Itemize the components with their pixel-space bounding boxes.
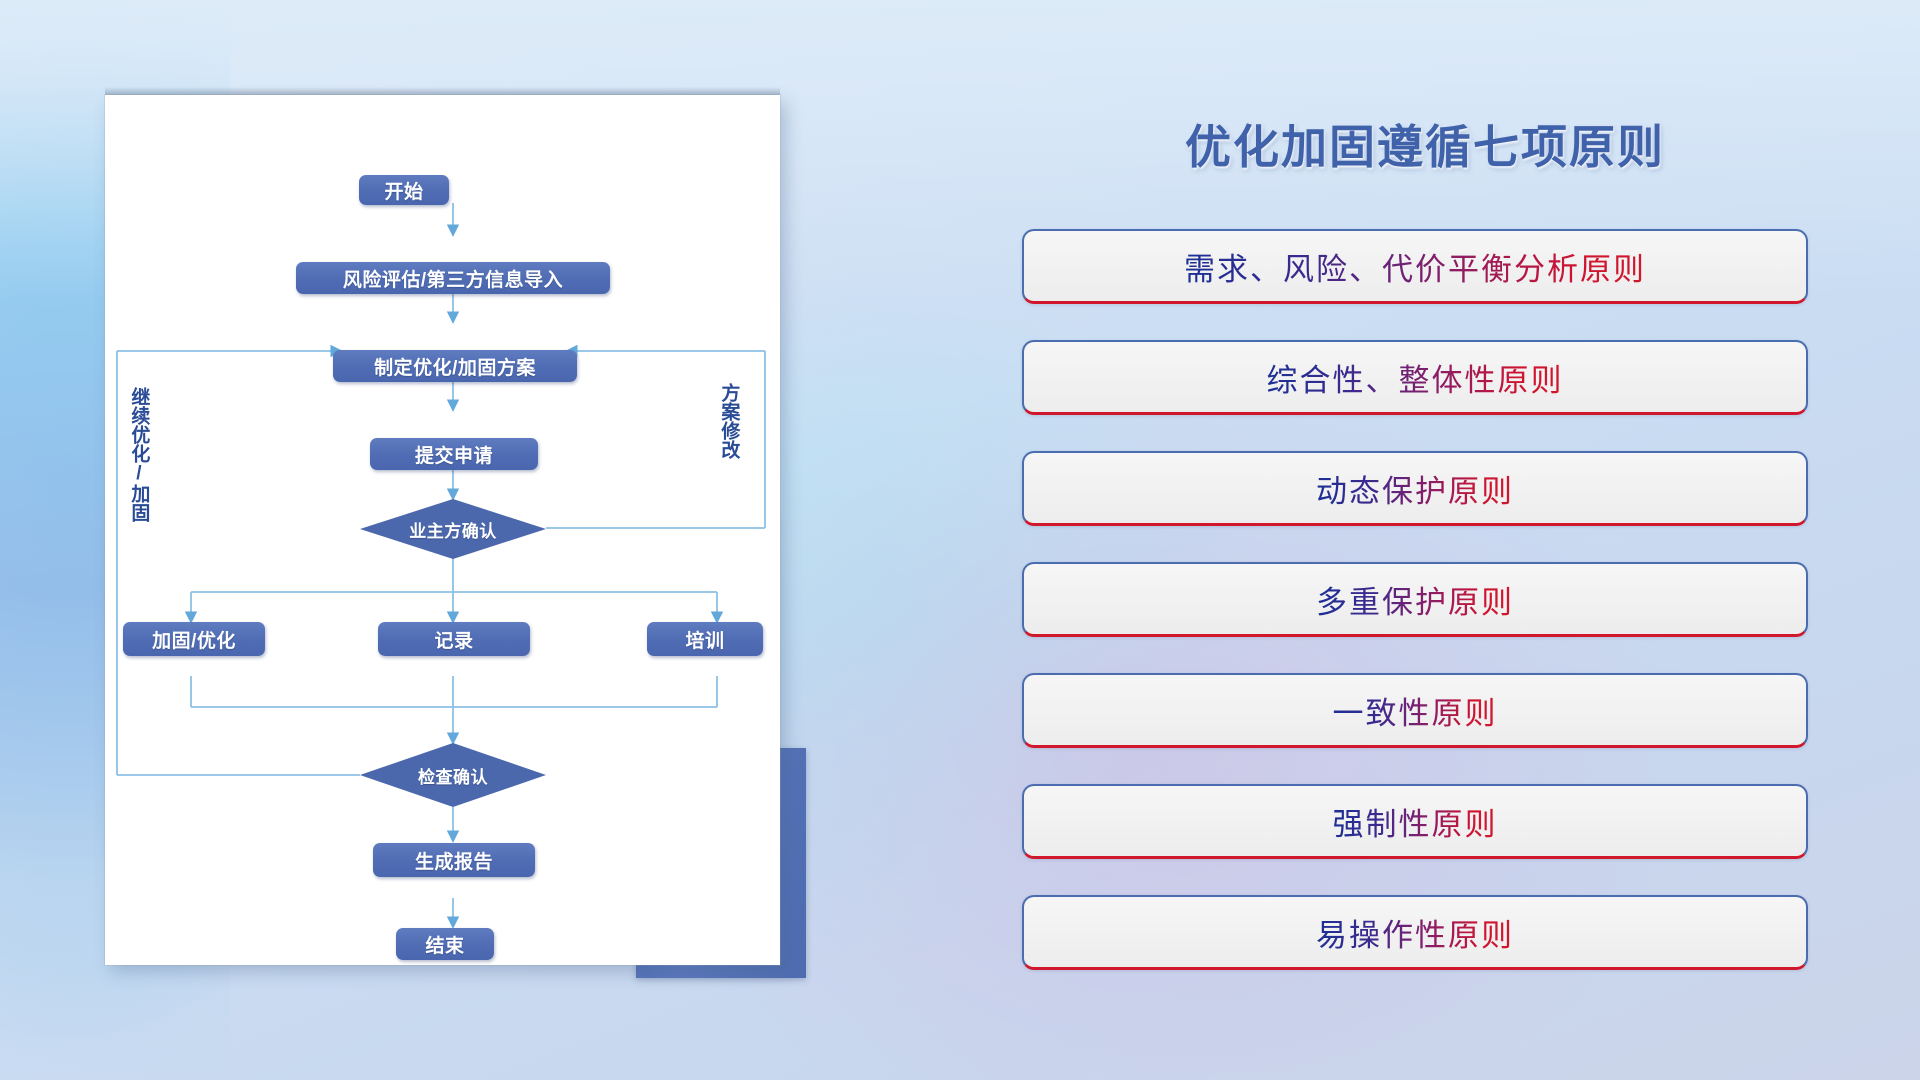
flow-node-make-plan-label: 制定优化/加固方案 xyxy=(374,353,536,380)
principle-item-label: 需求、风险、代价平衡分析原则 xyxy=(1184,244,1646,289)
principle-item-label: 多重保护原则 xyxy=(1316,577,1514,622)
flow-node-reinforce-optimize-label: 加固/优化 xyxy=(152,626,236,653)
flow-node-check-confirm-label: 检查确认 xyxy=(418,763,488,788)
flow-node-start[interactable]: 开始 xyxy=(359,175,449,205)
flow-node-generate-report[interactable]: 生成报告 xyxy=(373,843,535,877)
flow-node-submit-application[interactable]: 提交申请 xyxy=(370,438,538,470)
flow-node-check-confirm[interactable]: 检查确认 xyxy=(360,743,546,807)
flow-node-generate-report-label: 生成报告 xyxy=(415,847,493,874)
principle-item[interactable]: 多重保护原则 xyxy=(1022,562,1808,637)
flow-node-end[interactable]: 结束 xyxy=(396,928,494,960)
flowchart-card: 开始 风险评估/第三方信息导入 制定优化/加固方案 提交申请 业主方确认 加固/… xyxy=(105,95,780,965)
flow-node-training[interactable]: 培训 xyxy=(647,622,763,656)
principles-panel: 优化加固遵循七项原则 需求、风险、代价平衡分析原则 综合性、整体性原则 动态保护… xyxy=(1020,95,1830,1015)
principle-item[interactable]: 需求、风险、代价平衡分析原则 xyxy=(1022,229,1808,304)
flow-node-start-label: 开始 xyxy=(384,177,423,204)
principle-item[interactable]: 易操作性原则 xyxy=(1022,895,1808,970)
principle-item-label: 强制性原则 xyxy=(1333,799,1498,844)
flow-node-record[interactable]: 记录 xyxy=(378,622,530,656)
flow-node-owner-confirm-label: 业主方确认 xyxy=(409,517,497,542)
principle-item[interactable]: 综合性、整体性原则 xyxy=(1022,340,1808,415)
flow-node-owner-confirm[interactable]: 业主方确认 xyxy=(360,499,546,559)
flow-node-make-plan[interactable]: 制定优化/加固方案 xyxy=(333,350,577,382)
flow-edge-label-continue-optimize: 继续优化/加固 xyxy=(129,387,148,522)
flow-node-end-label: 结束 xyxy=(425,931,464,958)
principle-item-label: 易操作性原则 xyxy=(1316,910,1514,955)
principle-item[interactable]: 强制性原则 xyxy=(1022,784,1808,859)
principle-item[interactable]: 动态保护原则 xyxy=(1022,451,1808,526)
flow-edge-label-plan-revision: 方案修改 xyxy=(719,383,738,459)
principle-item[interactable]: 一致性原则 xyxy=(1022,673,1808,748)
flow-node-risk-assessment-label: 风险评估/第三方信息导入 xyxy=(343,265,563,292)
flow-node-submit-application-label: 提交申请 xyxy=(415,441,493,468)
principle-item-label: 一致性原则 xyxy=(1333,688,1498,733)
flow-node-reinforce-optimize[interactable]: 加固/优化 xyxy=(123,622,265,656)
principles-list: 需求、风险、代价平衡分析原则 综合性、整体性原则 动态保护原则 多重保护原则 一… xyxy=(1022,229,1808,1006)
flow-node-risk-assessment[interactable]: 风险评估/第三方信息导入 xyxy=(296,262,610,294)
panel-title: 优化加固遵循七项原则 xyxy=(1020,111,1830,177)
principle-item-label: 动态保护原则 xyxy=(1316,466,1514,511)
flow-node-record-label: 记录 xyxy=(434,626,473,653)
flow-node-training-label: 培训 xyxy=(685,626,724,653)
principle-item-label: 综合性、整体性原则 xyxy=(1267,355,1564,400)
